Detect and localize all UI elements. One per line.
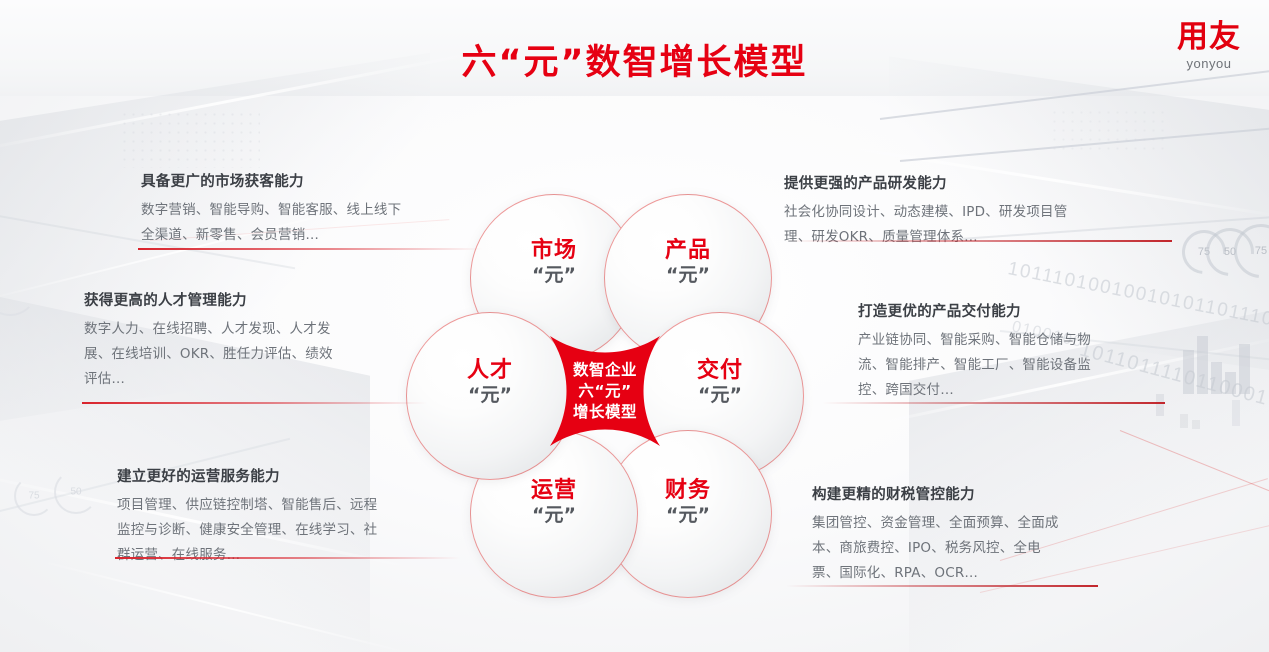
capability-block-delivery: 打造更优的产品交付能力 产业链协同、智能采购、智能仓储与物流、智能排产、智能工厂… <box>858 300 1102 403</box>
bar-shape-9 <box>1232 400 1240 426</box>
bar-shape-1 <box>1183 350 1194 394</box>
gauge-label-3: 75 <box>1255 245 1267 257</box>
capability-block-market: 具备更广的市场获客能力 数字营销、智能导购、智能客服、线上线下全渠道、新零售、会… <box>141 170 411 248</box>
left-gauge-icon-2: 50 <box>54 470 98 514</box>
petal-product-yuan: “元” <box>605 264 771 287</box>
petal-product-name: 产品 <box>605 239 771 264</box>
core-line-1: 数智企业 <box>573 360 637 381</box>
capability-block-finance: 构建更精的财税管控能力 集团管控、资金管理、全面预算、全面成本、商旅费控、IPO… <box>812 483 1060 586</box>
bar-shape-6 <box>1156 394 1164 416</box>
capability-title-talent: 获得更高的人才管理能力 <box>84 289 346 310</box>
capability-title-operation: 建立更好的运营服务能力 <box>117 465 389 486</box>
left-gauge-icon-1: 75 <box>14 476 54 516</box>
six-yuan-venn-diagram: 数智企业 六“元” 增长模型 市场 “元” 产品 “元” 交付 “元” 财务 “… <box>404 184 804 596</box>
bar-shape-7 <box>1180 414 1188 428</box>
core-line-2: 六“元” <box>578 381 631 402</box>
page-title: 六“元”数智增长模型 <box>0 34 1269 85</box>
core-label: 数智企业 六“元” 增长模型 <box>532 318 678 464</box>
divider-product <box>786 240 1172 242</box>
bar-shape-4 <box>1225 372 1236 394</box>
capability-title-product: 提供更强的产品研发能力 <box>784 172 1070 193</box>
bar-shape-8 <box>1192 420 1200 429</box>
petal-product-label: 产品 “元” <box>605 239 771 286</box>
logo-chinese-text: 用友 <box>1177 22 1241 53</box>
divider-delivery <box>822 402 1165 404</box>
capability-block-product: 提供更强的产品研发能力 社会化协同设计、动态建模、IPD、研发项目管理、研发OK… <box>784 172 1070 250</box>
divider-talent <box>82 402 427 404</box>
petal-operation-yuan: “元” <box>471 504 637 527</box>
capability-block-talent: 获得更高的人才管理能力 数字人力、在线招聘、人才发现、人才发展、在线培训、OKR… <box>84 289 346 392</box>
petal-operation-label: 运营 “元” <box>471 479 637 526</box>
logo-latin-text: yonyou <box>1177 56 1241 71</box>
capability-desc-product: 社会化协同设计、动态建模、IPD、研发项目管理、研发OKR、质量管理体系… <box>784 200 1070 250</box>
background-dot-grid-left <box>120 110 260 168</box>
divider-finance <box>786 585 1098 587</box>
bar-shape-5 <box>1239 344 1250 394</box>
divider-market <box>138 248 483 250</box>
brand-logo: 用友 yonyou <box>1177 22 1241 71</box>
capability-desc-talent: 数字人力、在线招聘、人才发现、人才发展、在线培训、OKR、胜任力评估、绩效评估… <box>84 317 346 392</box>
capability-desc-delivery: 产业链协同、智能采购、智能仓储与物流、智能排产、智能工厂、智能设备监控、跨国交付… <box>858 328 1102 403</box>
background-dot-grid-right <box>1050 108 1170 154</box>
capability-title-delivery: 打造更优的产品交付能力 <box>858 300 1102 321</box>
divider-operation <box>115 557 460 559</box>
bar-shape-2 <box>1197 336 1208 394</box>
left-gauge-label-1: 75 <box>28 491 39 502</box>
left-gauge-label-2: 50 <box>70 487 81 498</box>
capability-desc-market: 数字营销、智能导购、智能客服、线上线下全渠道、新零售、会员营销… <box>141 198 411 248</box>
capability-title-finance: 构建更精的财税管控能力 <box>812 483 1060 504</box>
diagram-core: 数智企业 六“元” 增长模型 <box>532 318 678 464</box>
capability-block-operation: 建立更好的运营服务能力 项目管理、供应链控制塔、智能售后、远程监控与诊断、健康安… <box>117 465 389 568</box>
capability-title-market: 具备更广的市场获客能力 <box>141 170 411 191</box>
core-line-3: 增长模型 <box>573 402 637 423</box>
bar-shape-3 <box>1211 362 1222 394</box>
petal-operation-name: 运营 <box>471 479 637 504</box>
capability-desc-finance: 集团管控、资金管理、全面预算、全面成本、商旅费控、IPO、税务风控、全电票、国际… <box>812 511 1060 586</box>
